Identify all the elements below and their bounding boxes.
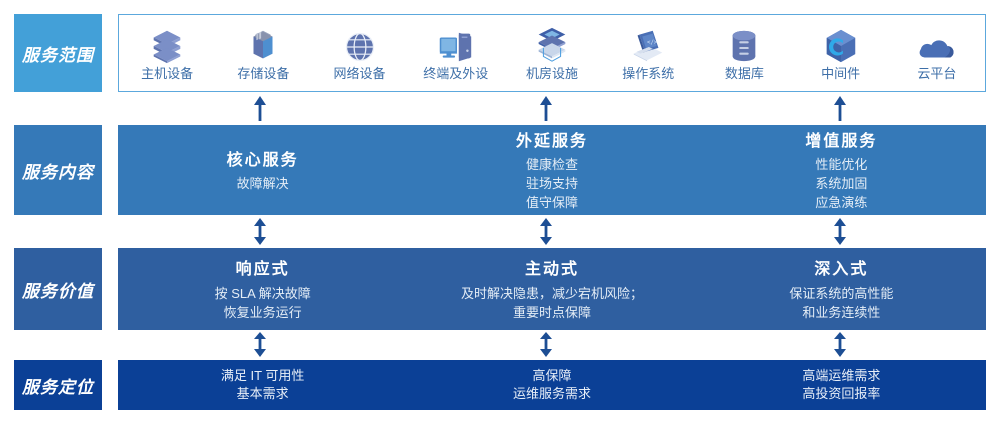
scope-item-label: 网络设备 — [334, 67, 386, 81]
arrow-down-high-assurance — [538, 332, 554, 357]
arrow-bidirectional-responsive — [252, 218, 268, 245]
scope-item-terminal-peripherals[interactable]: 终端及外设 — [408, 25, 504, 81]
positioning-column-basic[interactable]: 满足 IT 可用性 基本需求 — [118, 367, 407, 403]
scope-item-label: 数据库 — [725, 67, 764, 81]
database-icon — [723, 25, 765, 65]
positioning-column-high-end[interactable]: 高端运维需求 高投资回报率 — [697, 367, 986, 403]
arrow-up-core — [252, 96, 268, 121]
scope-item-data-center-facility[interactable]: 机房设施 — [504, 25, 600, 81]
column-title: 响应式 — [236, 255, 290, 279]
scope-item-list: 主机设备 存储设备 — [119, 15, 985, 91]
row-label-service-value: 服务价值 — [14, 248, 102, 330]
scope-item-middleware[interactable]: 中间件 — [793, 25, 889, 81]
storage-array-icon — [242, 25, 284, 65]
row-label-service-content: 服务内容 — [14, 125, 102, 215]
cloud-platform-icon — [916, 25, 958, 65]
arrow-down-high-end — [832, 332, 848, 357]
scope-item-database[interactable]: 数据库 — [696, 25, 792, 81]
data-center-facility-icon — [531, 25, 573, 65]
value-column-deep[interactable]: 深入式 保证系统的高性能 和业务连续性 — [697, 255, 986, 323]
row-label-service-positioning: 服务定位 — [14, 360, 102, 410]
content-column-core-service[interactable]: 核心服务 故障解决 — [118, 146, 407, 194]
column-title: 深入式 — [814, 255, 868, 279]
row-label-text: 服务价值 — [22, 277, 94, 302]
value-column-responsive[interactable]: 响应式 按 SLA 解决故障 恢复业务运行 — [118, 255, 407, 323]
service-content-columns: 核心服务 故障解决 外延服务 健康检查 驻场支持 值守保障 增值服务 性能优化 … — [118, 125, 986, 215]
panel-service-content: 核心服务 故障解决 外延服务 健康检查 驻场支持 值守保障 增值服务 性能优化 … — [118, 125, 986, 215]
column-lines: 高端运维需求 高投资回报率 — [802, 367, 880, 403]
row-label-text: 服务范围 — [22, 41, 94, 66]
server-stack-icon — [146, 25, 188, 65]
row-label-text: 服务定位 — [22, 373, 94, 398]
service-positioning-columns: 满足 IT 可用性 基本需求 高保障 运维服务需求 高端运维需求 高投资回报率 — [118, 360, 986, 410]
panel-service-value: 响应式 按 SLA 解决故障 恢复业务运行 主动式 及时解决隐患，减少宕机风险；… — [118, 248, 986, 330]
scope-item-cloud-platform[interactable]: 云平台 — [889, 25, 985, 81]
scope-item-label: 中间件 — [821, 67, 860, 81]
network-globe-icon — [339, 25, 381, 65]
scope-item-label: 主机设备 — [141, 67, 193, 81]
arrow-bidirectional-deep — [832, 218, 848, 245]
desktop-peripheral-icon — [435, 25, 477, 65]
svg-text:</>: </> — [647, 40, 658, 46]
column-lines: 满足 IT 可用性 基本需求 — [221, 367, 305, 403]
column-title: 增值服务 — [805, 127, 877, 151]
scope-item-label: 机房设施 — [526, 67, 578, 81]
column-title: 外延服务 — [516, 127, 588, 151]
middleware-cube-icon — [820, 25, 862, 65]
arrow-bidirectional-proactive — [538, 218, 554, 245]
arrow-up-extended — [538, 96, 554, 121]
arrow-up-value-added — [832, 96, 848, 121]
operating-system-icon: </> — [627, 25, 669, 65]
service-value-columns: 响应式 按 SLA 解决故障 恢复业务运行 主动式 及时解决隐患，减少宕机风险；… — [118, 248, 986, 330]
scope-item-host-equipment[interactable]: 主机设备 — [119, 25, 215, 81]
column-title: 主动式 — [525, 255, 579, 279]
column-lines: 性能优化 系统加固 应急演练 — [815, 156, 867, 213]
row-label-service-scope: 服务范围 — [14, 14, 102, 92]
arrow-down-basic — [252, 332, 268, 357]
scope-item-label: 操作系统 — [622, 67, 674, 81]
value-column-proactive[interactable]: 主动式 及时解决隐患，减少宕机风险； 重要时点保障 — [407, 255, 696, 323]
positioning-column-high-assurance[interactable]: 高保障 运维服务需求 — [407, 367, 696, 403]
column-lines: 高保障 运维服务需求 — [513, 367, 591, 403]
scope-item-operating-system[interactable]: </> 操作系统 — [600, 25, 696, 81]
column-lines: 故障解决 — [237, 175, 289, 194]
scope-item-storage-equipment[interactable]: 存储设备 — [215, 25, 311, 81]
scope-item-network-equipment[interactable]: 网络设备 — [311, 25, 407, 81]
column-lines: 健康检查 驻场支持 值守保障 — [526, 156, 578, 213]
content-column-value-added-service[interactable]: 增值服务 性能优化 系统加固 应急演练 — [697, 127, 986, 213]
content-column-extended-service[interactable]: 外延服务 健康检查 驻场支持 值守保障 — [407, 127, 696, 213]
scope-item-label: 云平台 — [917, 67, 956, 81]
row-label-text: 服务内容 — [22, 158, 94, 183]
service-framework-diagram: 服务范围 — [0, 0, 1000, 424]
scope-item-label: 存储设备 — [237, 67, 289, 81]
panel-service-positioning: 满足 IT 可用性 基本需求 高保障 运维服务需求 高端运维需求 高投资回报率 — [118, 360, 986, 410]
scope-item-label: 终端及外设 — [423, 67, 488, 81]
panel-service-scope: 主机设备 存储设备 — [118, 14, 986, 92]
column-lines: 保证系统的高性能 和业务连续性 — [789, 285, 893, 323]
column-title: 核心服务 — [227, 146, 299, 170]
column-lines: 及时解决隐患，减少宕机风险； 重要时点保障 — [461, 285, 643, 323]
column-lines: 按 SLA 解决故障 恢复业务运行 — [215, 285, 311, 323]
